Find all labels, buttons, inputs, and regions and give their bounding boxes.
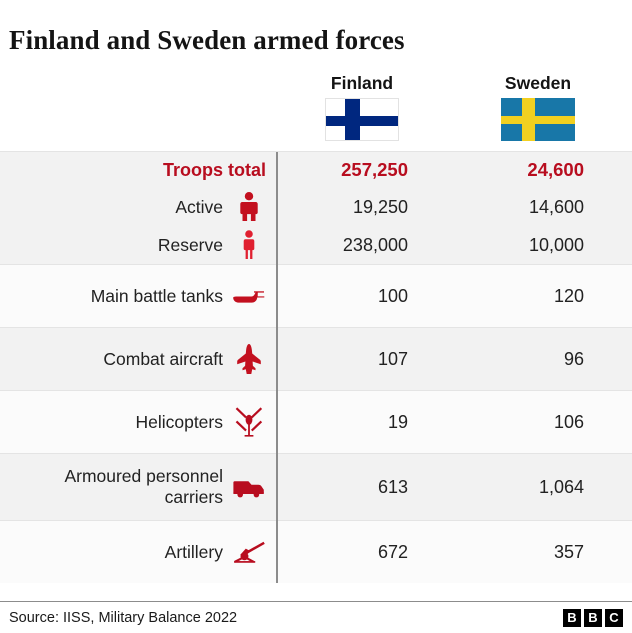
finland-flag-horizontal-bar: [326, 116, 398, 126]
armoured-carrier-icon: [232, 470, 266, 504]
table-row: Combat aircraft 107 96: [0, 328, 632, 390]
value-finland: 672: [276, 541, 452, 563]
helicopter-icon: [232, 405, 266, 439]
column-label-finland: Finland: [274, 73, 450, 93]
row-label: Main battle tanks: [91, 286, 223, 307]
page-title: Finland and Sweden armed forces: [0, 18, 632, 55]
finland-flag-vertical-bar: [345, 99, 360, 140]
value-sweden: 10,000: [452, 234, 628, 256]
value-sweden: 120: [452, 285, 628, 307]
table-group-troops: Troops total 257,250 24,600 Active 19,25…: [0, 152, 632, 264]
value-finland: 107: [276, 348, 452, 370]
value-finland: 19: [276, 411, 452, 433]
table-group-tanks: Main battle tanks 100 120: [0, 264, 632, 327]
value-sweden: 106: [452, 411, 628, 433]
row-label: Helicopters: [135, 412, 223, 433]
row-label-cell: Reserve: [0, 228, 276, 262]
finland-flag-icon: [325, 98, 399, 141]
row-label: Troops total: [163, 160, 266, 181]
value-finland: 613: [276, 476, 452, 498]
source-text: Source: IISS, Military Balance 2022: [9, 610, 237, 626]
column-header-finland: Finland: [274, 73, 450, 141]
table-row: Armoured personnel carriers 613 1,064: [0, 454, 632, 520]
row-label-cell: Armoured personnel carriers: [0, 466, 276, 508]
infographic-page: Finland and Sweden armed forces Finland …: [0, 18, 632, 633]
column-divider: [276, 152, 278, 583]
value-finland: 100: [276, 285, 452, 307]
armed-forces-table: Troops total 257,250 24,600 Active 19,25…: [0, 151, 632, 583]
table-row: Troops total 257,250 24,600: [0, 152, 632, 188]
column-header-sweden: Sweden: [450, 73, 626, 141]
row-label-cell: Troops total: [0, 160, 276, 181]
row-label-cell: Artillery: [0, 535, 276, 569]
value-sweden: 24,600: [452, 159, 628, 181]
value-finland: 257,250: [276, 159, 452, 181]
value-sweden: 96: [452, 348, 628, 370]
table-group-artillery: Artillery 672 357: [0, 520, 632, 583]
bbc-logo-letter-3: C: [605, 609, 623, 627]
table-group-apc: Armoured personnel carriers 613 1,064: [0, 453, 632, 520]
sweden-flag-horizontal-bar: [501, 116, 575, 124]
row-label: Armoured personnel carriers: [64, 466, 223, 508]
person-active-icon: [232, 190, 266, 224]
bbc-logo-letter-2: B: [584, 609, 602, 627]
table-header: Finland Sweden: [0, 73, 632, 151]
value-finland: 19,250: [276, 196, 452, 218]
footer: Source: IISS, Military Balance 2022 B B …: [0, 601, 632, 633]
row-label: Combat aircraft: [103, 349, 223, 370]
column-label-sweden: Sweden: [450, 73, 626, 93]
bbc-logo: B B C: [563, 609, 623, 627]
table-row: Active 19,250 14,600: [0, 188, 632, 226]
artillery-icon: [232, 535, 266, 569]
row-label-cell: Helicopters: [0, 405, 276, 439]
table-row: Helicopters 19 106: [0, 391, 632, 453]
row-label-cell: Main battle tanks: [0, 279, 276, 313]
table-group-aircraft: Combat aircraft 107 96: [0, 327, 632, 390]
value-sweden: 357: [452, 541, 628, 563]
row-label-cell: Active: [0, 190, 276, 224]
person-reserve-icon: [232, 228, 266, 262]
row-label: Reserve: [158, 235, 223, 256]
value-sweden: 1,064: [452, 476, 628, 498]
table-row: Artillery 672 357: [0, 521, 632, 583]
value-sweden: 14,600: [452, 196, 628, 218]
row-label: Artillery: [165, 542, 223, 563]
table-group-helicopters: Helicopters 19 106: [0, 390, 632, 453]
fighter-jet-icon: [232, 342, 266, 376]
value-finland: 238,000: [276, 234, 452, 256]
tank-icon: [232, 279, 266, 313]
bbc-logo-letter-1: B: [563, 609, 581, 627]
sweden-flag-vertical-bar: [522, 98, 535, 141]
table-row: Reserve 238,000 10,000: [0, 226, 632, 264]
row-label-cell: Combat aircraft: [0, 342, 276, 376]
row-label: Active: [175, 197, 223, 218]
sweden-flag-icon: [501, 98, 575, 141]
table-row: Main battle tanks 100 120: [0, 265, 632, 327]
